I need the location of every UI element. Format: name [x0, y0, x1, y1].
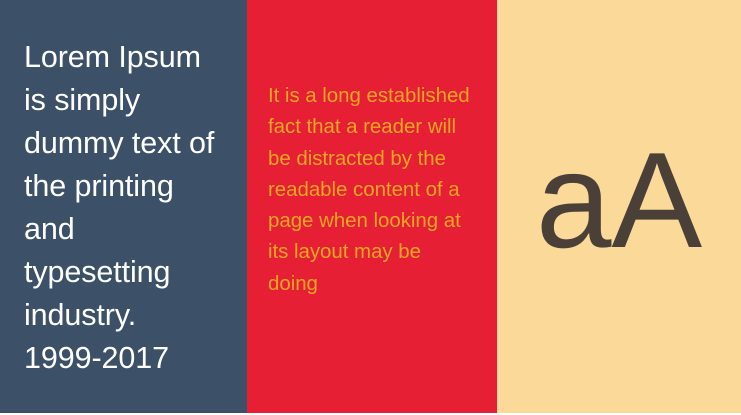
panel-intro: Lorem Ipsum is simply dummy text of the … — [0, 0, 247, 413]
typography-slide: Lorem Ipsum is simply dummy text of the … — [0, 0, 741, 415]
type-specimen-glyphs: aA — [536, 132, 702, 268]
body-paragraph: It is a long established fact that a rea… — [268, 80, 475, 299]
panel-type-specimen: aA — [497, 0, 741, 413]
intro-heading: Lorem Ipsum is simply dummy text of the … — [24, 36, 227, 380]
panel-body-copy: It is a long established fact that a rea… — [247, 0, 497, 413]
